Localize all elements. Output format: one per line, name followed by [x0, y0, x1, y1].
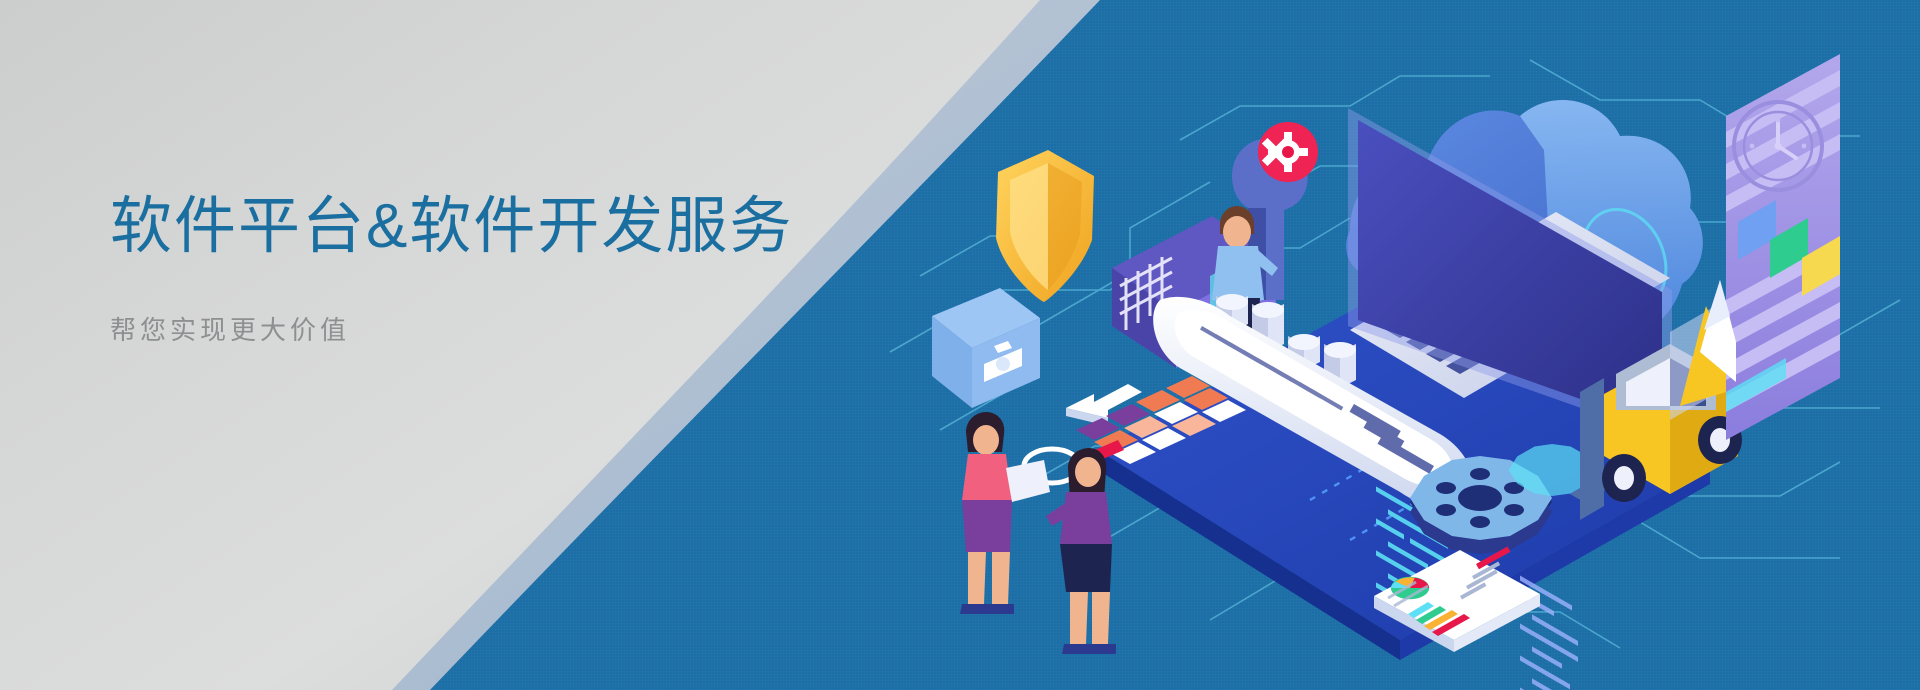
shield-icon — [996, 150, 1094, 302]
gear-badge-icon — [1258, 122, 1318, 182]
page-title: 软件平台&软件开发服务 — [110, 196, 870, 258]
camera-icon — [932, 288, 1040, 408]
isometric-scene — [880, 0, 1920, 690]
analyst-person-pink — [960, 412, 1050, 614]
hero-banner: 软件平台&软件开发服务 帮您实现更大价值 — [0, 0, 1920, 690]
page-subtitle: 帮您实现更大价值 — [110, 310, 870, 347]
banner-copy: 软件平台&软件开发服务 帮您实现更大价值 — [110, 196, 870, 347]
hero-illustration — [880, 0, 1920, 690]
analyst-person-purple — [1046, 448, 1116, 654]
